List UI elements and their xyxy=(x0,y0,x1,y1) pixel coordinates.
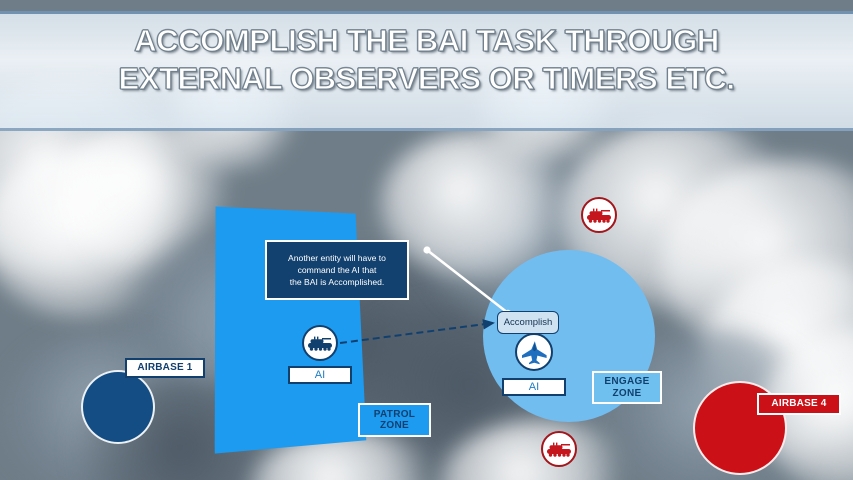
enemy-tank-icon[interactable] xyxy=(581,197,617,233)
patrol-zone-area[interactable] xyxy=(209,198,366,453)
tank-icon[interactable] xyxy=(302,325,338,361)
fighter-jet-icon[interactable] xyxy=(515,333,553,371)
enemy-tank-icon[interactable] xyxy=(541,431,577,467)
airbase-4-label[interactable]: AIRBASE 4 xyxy=(757,393,841,415)
patrol-zone-label-line-2: ZONE xyxy=(380,420,409,432)
callout-line-3: the BAI is Accomplished. xyxy=(290,276,385,288)
patrol-ai-label[interactable]: AI xyxy=(288,366,352,384)
callout-note: Another entity will have to command the … xyxy=(265,240,409,300)
accomplish-command-chip[interactable]: Accomplish xyxy=(497,311,559,334)
airbase-1-label[interactable]: AIRBASE 1 xyxy=(125,358,205,378)
engage-zone-label[interactable]: ENGAGE ZONE xyxy=(592,371,662,404)
slide-canvas: ACCOMPLISH THE BAI TASK THROUGH EXTERNAL… xyxy=(0,0,853,480)
enemy-tank-glyph xyxy=(546,441,572,457)
title-line-1: ACCOMPLISH THE BAI TASK THROUGH xyxy=(0,22,853,60)
engage-zone-label-line-2: ZONE xyxy=(613,388,642,400)
enemy-tank-glyph xyxy=(586,207,612,223)
jet-glyph xyxy=(521,340,548,365)
tank-glyph xyxy=(307,335,333,351)
engage-zone-label-line-1: ENGAGE xyxy=(604,376,649,388)
page-title: ACCOMPLISH THE BAI TASK THROUGH EXTERNAL… xyxy=(0,22,853,99)
engage-ai-label[interactable]: AI xyxy=(502,378,566,396)
callout-line-2: command the AI that xyxy=(298,264,377,276)
callout-line-1: Another entity will have to xyxy=(288,252,386,264)
airbase-1-circle[interactable] xyxy=(81,370,155,444)
patrol-zone-label[interactable]: PATROL ZONE xyxy=(358,403,431,437)
patrol-zone-label-line-1: PATROL xyxy=(374,409,415,421)
title-line-2: EXTERNAL OBSERVERS OR TIMERS ETC. xyxy=(0,60,853,98)
